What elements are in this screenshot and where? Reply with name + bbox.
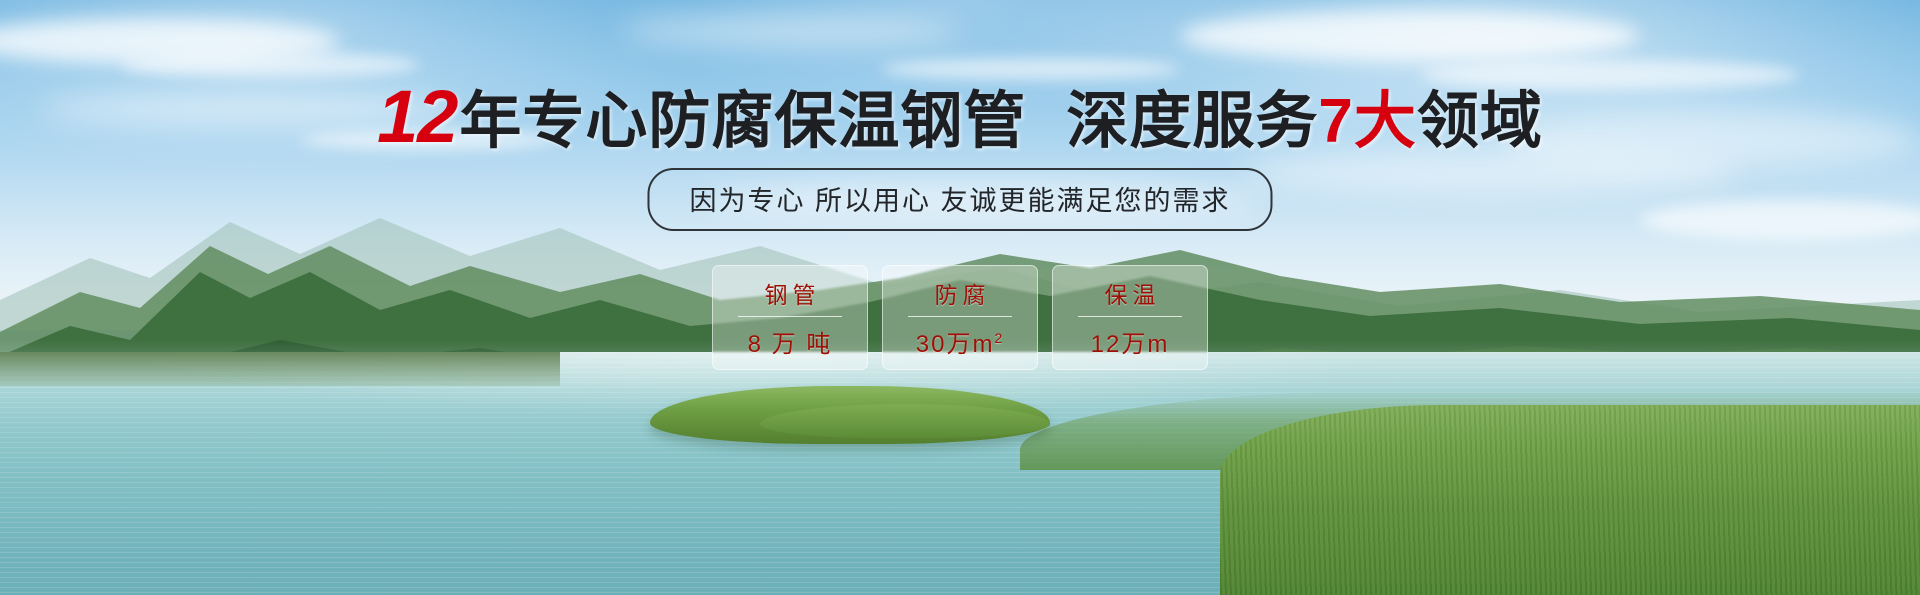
stat-card-value-text: 8 万 吨 (748, 331, 833, 358)
headline-highlight: 7大 (1318, 87, 1416, 156)
cloud-shape (120, 52, 420, 78)
stat-card-label: 防腐 (930, 276, 991, 310)
headline-years-number: 12 (377, 75, 457, 158)
stat-card-steel-pipe[interactable]: 钢管 8 万 吨 (712, 265, 868, 370)
stat-card-label: 保温 (1100, 276, 1161, 310)
headline-part-two: 深度服务 (1066, 87, 1318, 156)
grass-island-lower (760, 404, 1050, 438)
stat-card-label: 钢管 (760, 276, 821, 310)
stat-card-insulation[interactable]: 保温 12万m (1052, 265, 1208, 370)
stat-card-value: 8 万 吨 (748, 324, 833, 359)
left-shoreline (0, 352, 560, 386)
stat-card-divider (908, 316, 1012, 317)
stat-card-group: 钢管 8 万 吨 防腐 30万m2 保温 12万m (712, 265, 1208, 370)
headline-part-three: 领域 (1417, 87, 1543, 156)
headline-part-one: 年专心防腐保温钢管 (459, 87, 1026, 156)
stat-card-anticorrosion[interactable]: 防腐 30万m2 (882, 265, 1038, 370)
subtitle-pill: 因为专心 所以用心 友诚更能满足您的需求 (647, 168, 1272, 231)
cloud-shape (1180, 10, 1640, 62)
stat-card-value-superscript: 2 (994, 330, 1004, 346)
cloud-shape (880, 58, 1180, 80)
stat-card-value-text: 12万m (1091, 331, 1170, 358)
stat-card-value: 30万m2 (916, 324, 1004, 359)
stat-card-value-text: 30万m (916, 331, 995, 358)
stat-card-divider (738, 316, 842, 317)
page-title: 12年专心防腐保温钢管深度服务7大领域 (0, 82, 1920, 157)
hero-banner: 12年专心防腐保温钢管深度服务7大领域 因为专心 所以用心 友诚更能满足您的需求… (0, 0, 1920, 595)
stat-card-value: 12万m (1091, 324, 1170, 359)
cloud-shape (620, 16, 960, 46)
grass-texture (1220, 405, 1920, 595)
stat-card-divider (1078, 316, 1182, 317)
